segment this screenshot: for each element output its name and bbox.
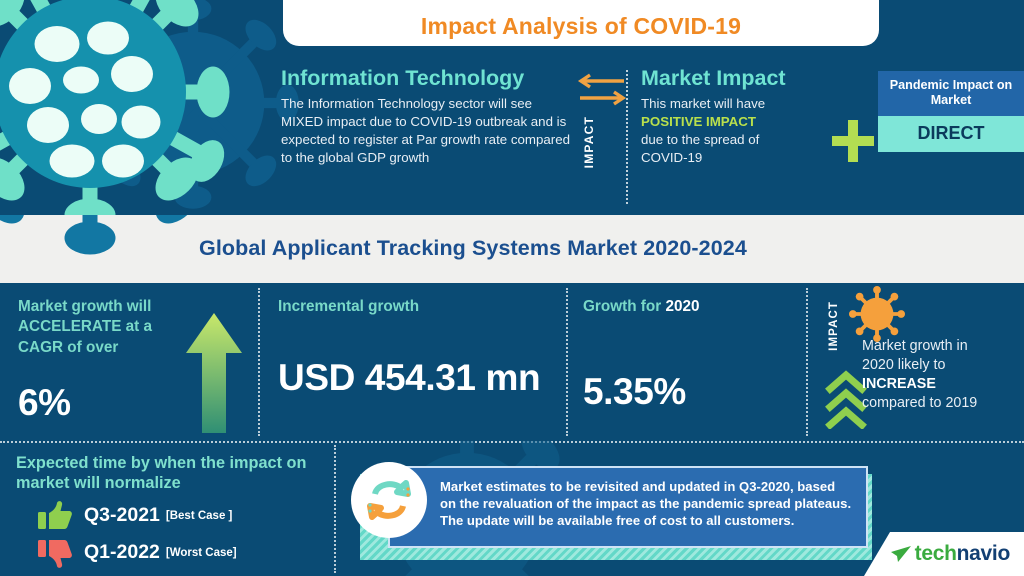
logo-text-tech: tech [915,542,957,565]
impact-divider: IMPACT [574,72,630,202]
growth2020-lead-year: 2020 [665,298,699,315]
refresh-cycle-icon [363,474,415,526]
impact-right-highlight: INCREASE [862,376,936,392]
market-impact-heading: Market Impact [641,66,856,91]
case-best-tag: [Best Case ] [166,510,232,522]
case-row-best: Q3-2021 [Best Case ] [16,501,328,531]
market-impact-highlight: POSITIVE IMPACT [641,113,856,131]
impact-right-block: IMPACT [816,283,1024,441]
incremental-value: USD 454.31 mn [278,357,554,399]
case-best-quarter: Q3-2021 [84,504,160,527]
it-heading: Information Technology [281,66,571,91]
cagr-lead: Market growth will ACCELERATE at a CAGR … [18,283,190,358]
market-impact-line3: COVID-19 [641,149,856,167]
report-name: Global Applicant Tracking Systems Market… [199,236,747,261]
stat-incremental: Incremental growth USD 454.31 mn [278,283,554,441]
report-name-band: Global Applicant Tracking Systems Market… [0,215,1024,283]
dotted-divider-1 [258,288,260,436]
information-technology-block: Information Technology The Information T… [281,66,571,168]
logo-text-navio: navio [957,542,1010,565]
dotted-divider-4 [334,445,336,573]
incremental-lead: Incremental growth [278,283,428,317]
it-body: The Information Technology sector will s… [281,95,571,168]
virus-illustration-icon [0,0,240,215]
page-title-pill: Impact Analysis of COVID-19 [283,0,879,46]
page-title: Impact Analysis of COVID-19 [421,13,741,40]
note-text: Market estimates to be revisited and upd… [440,478,852,529]
note-box: Market estimates to be revisited and upd… [388,466,868,548]
infographic-canvas: Impact Analysis of COVID-19 Information … [0,0,1024,576]
market-impact-block: Market Impact This market will have POSI… [641,66,856,168]
technavio-logo[interactable]: technavio [890,542,1010,566]
case-worst-quarter: Q1-2022 [84,541,160,564]
bidirectional-arrow-icon [576,72,628,106]
up-arrow-icon [185,311,243,433]
plus-icon [832,120,874,162]
thumbs-down-icon [38,538,72,568]
virus-icon [848,285,906,343]
growth2020-lead-teal: Growth for [583,298,661,315]
pandemic-impact-box: Pandemic Impact on Market DIRECT [878,71,1024,152]
impact-right-label: IMPACT [828,301,840,351]
dotted-divider-vertical [626,70,628,204]
market-impact-line1: This market will have [641,95,856,113]
impact-right-line2: 2020 likely to [862,356,1024,375]
impact-right-line3: compared to 2019 [862,394,1024,413]
dotted-divider-2 [566,288,568,436]
case-worst-tag: [Worst Case] [166,547,237,559]
impact-label: IMPACT [582,116,596,168]
pandemic-impact-heading: Pandemic Impact on Market [878,71,1024,116]
top-section: Impact Analysis of COVID-19 Information … [0,0,1024,215]
pandemic-impact-value: DIRECT [878,116,1024,152]
refresh-badge [351,462,427,538]
growth2020-value: 5.35% [583,371,815,413]
thumbs-up-icon [38,501,72,531]
impact-right-line1: Market growth in [862,337,1024,356]
case-row-worst: Q1-2022 [Worst Case] [16,538,328,568]
stats-section: Market growth will ACCELERATE at a CAGR … [0,283,1024,441]
market-impact-line2: due to the spread of [641,131,856,149]
paper-plane-icon [890,545,912,563]
dotted-divider-3 [806,288,808,436]
normalize-title: Expected time by when the impact on mark… [16,453,328,494]
normalize-block: Expected time by when the impact on mark… [16,453,328,568]
stat-growth-2020: Growth for 2020 5.35% [583,283,815,441]
